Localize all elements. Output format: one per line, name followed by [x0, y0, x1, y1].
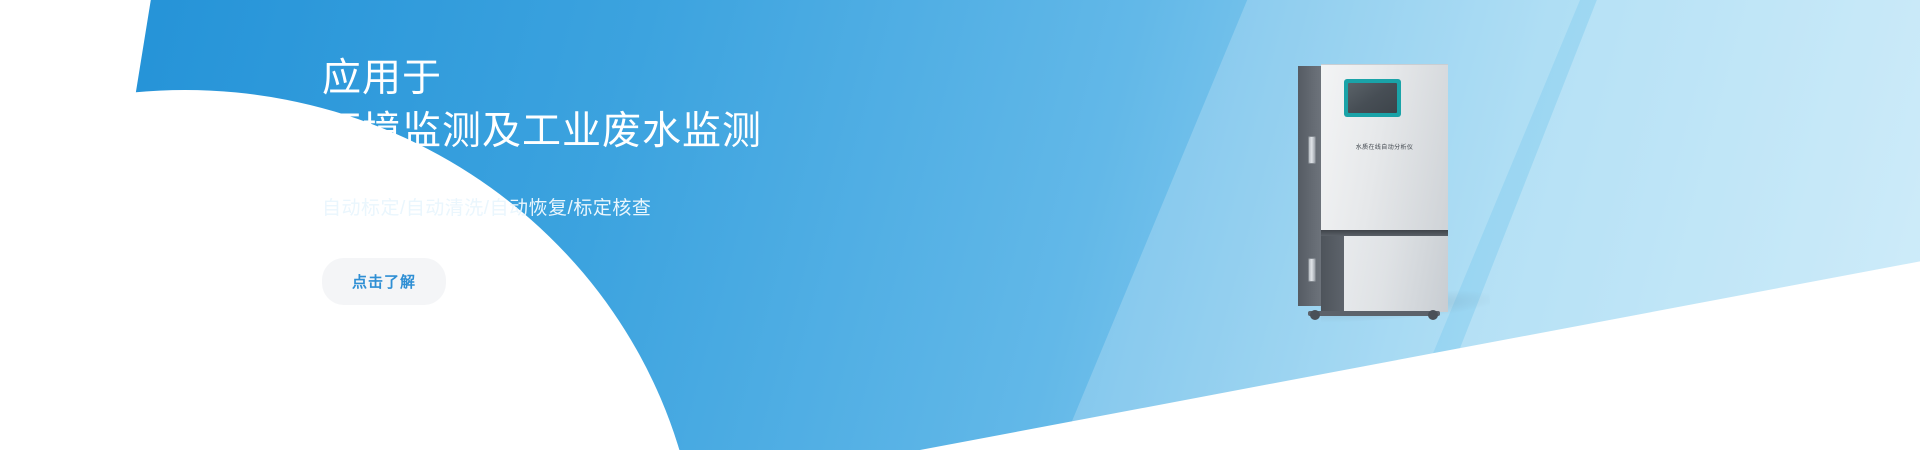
- device-lower-cabinet: [1321, 236, 1448, 312]
- hero-headline-line-1: 应用于: [322, 52, 1022, 105]
- hero-subheadline: 自动标定/自动清洗/自动恢复/标定核查: [322, 196, 1022, 222]
- analyzer-device-image: 水质在线自动分析仪: [1298, 62, 1448, 312]
- device-label: 水质在线自动分析仪: [1321, 142, 1448, 151]
- device-lower-side-panel: [1321, 236, 1344, 312]
- device-caster-right: [1428, 310, 1438, 320]
- hero-headline-line-2: 环境监测及工业废水监测: [322, 105, 1022, 158]
- device-body: 水质在线自动分析仪: [1298, 62, 1448, 312]
- hero-headline: 应用于 环境监测及工业废水监测: [322, 52, 1022, 158]
- hero-banner: 应用于 环境监测及工业废水监测 自动标定/自动清洗/自动恢复/标定核查 点击了解…: [0, 0, 1920, 450]
- device-base-bar: [1308, 311, 1440, 316]
- device-screen-bezel: [1344, 79, 1401, 117]
- device-upper-door-handle: [1308, 136, 1316, 164]
- learn-more-button[interactable]: 点击了解: [322, 258, 446, 305]
- device-screen: [1348, 83, 1397, 113]
- hero-copy-block: 应用于 环境监测及工业废水监测 自动标定/自动清洗/自动恢复/标定核查 点击了解: [322, 52, 1022, 305]
- device-lower-door-handle: [1308, 258, 1316, 282]
- device-caster-left: [1310, 310, 1320, 320]
